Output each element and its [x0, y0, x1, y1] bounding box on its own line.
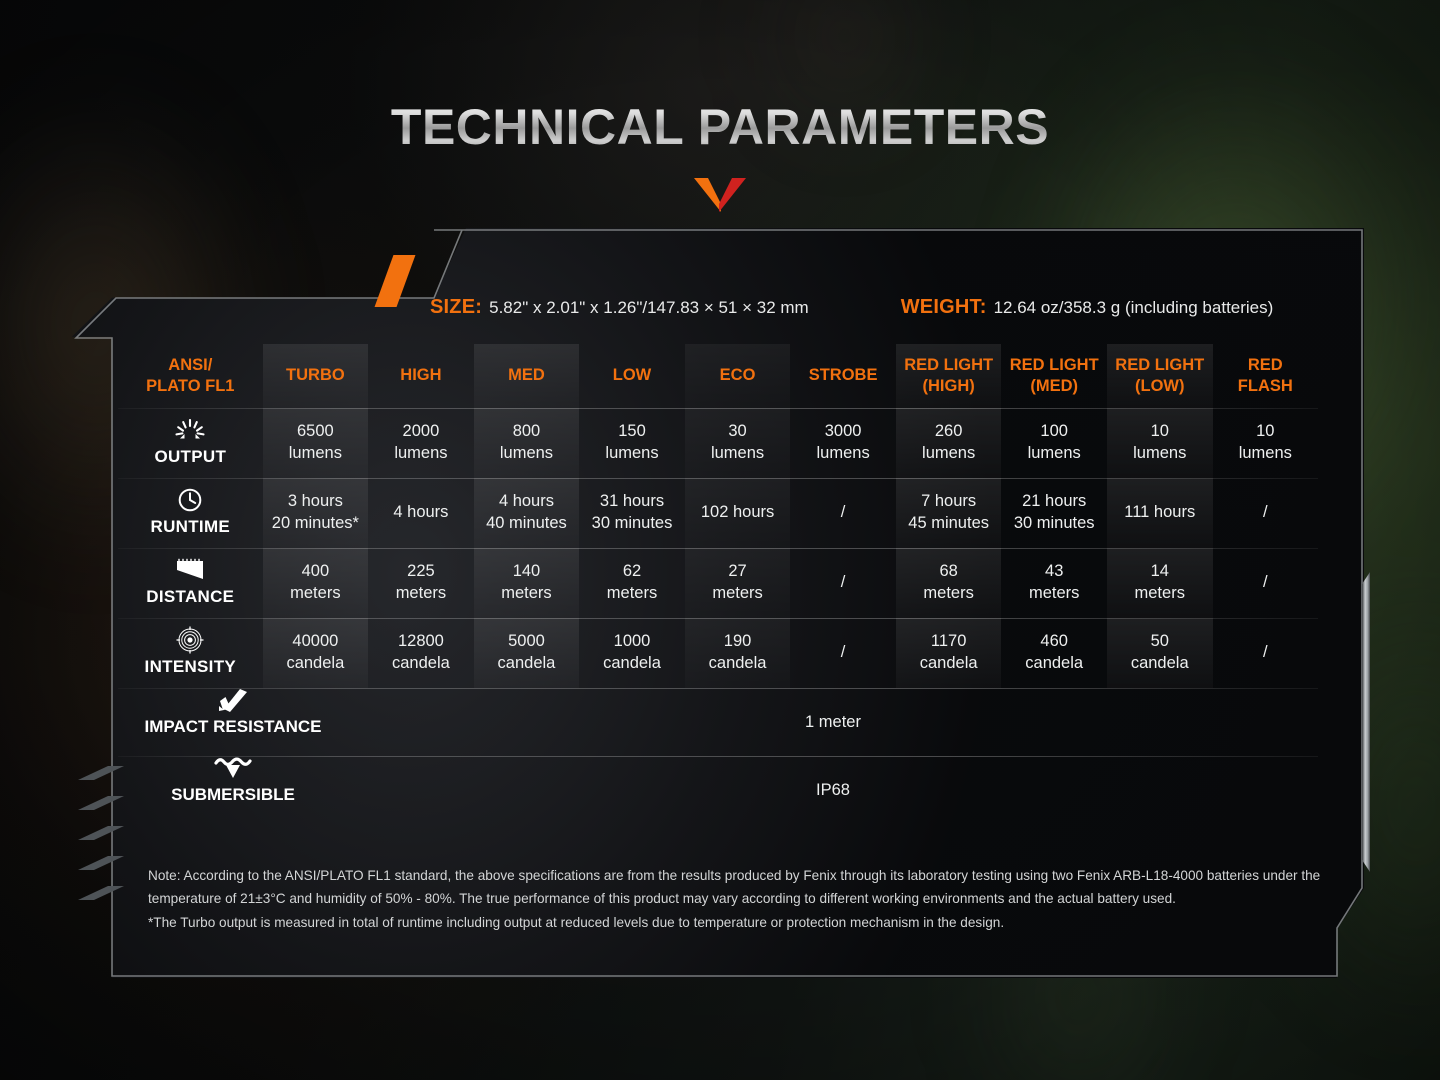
- row-label-intensity: INTENSITY: [118, 618, 263, 688]
- cell-output-red-low: 10lumens: [1107, 408, 1213, 478]
- row-label-text: OUTPUT: [154, 446, 226, 469]
- page-title: TECHNICAL PARAMETERS: [391, 98, 1049, 156]
- footnote-section: Note: According to the ANSI/PLATO FL1 st…: [148, 864, 1338, 934]
- table-row-runtime: RUNTIME 3 hours20 minutes* 4 hours 4 hou…: [118, 478, 1318, 548]
- cell-runtime-eco: 102 hours: [685, 478, 791, 548]
- size-label: SIZE:: [430, 296, 482, 319]
- cell-intensity-med: 5000candela: [474, 618, 580, 688]
- cell-distance-red-high: 68meters: [896, 548, 1002, 618]
- row-label-distance: DISTANCE: [118, 548, 263, 618]
- cell-intensity-red-high: 1170candela: [896, 618, 1002, 688]
- cell-distance-strobe: /: [790, 548, 896, 618]
- specification-table: ANSI/ PLATO FL1 TURBO HIGH MED LOW ECO S…: [118, 344, 1318, 824]
- cell-output-turbo: 6500lumens: [263, 408, 369, 478]
- cell-runtime-turbo: 3 hours20 minutes*: [263, 478, 369, 548]
- cell-output-red-med: 100lumens: [1001, 408, 1107, 478]
- cell-runtime-red-low: 111 hours: [1107, 478, 1213, 548]
- cell-intensity-turbo: 40000candela: [263, 618, 369, 688]
- cell-intensity-eco: 190candela: [685, 618, 791, 688]
- table-row-impact-resistance: IMPACT RESISTANCE 1 meter: [118, 688, 1318, 756]
- cell-intensity-high: 12800candela: [368, 618, 474, 688]
- row-label-text: IMPACT RESISTANCE: [145, 717, 322, 737]
- cell-output-red-high: 260lumens: [896, 408, 1002, 478]
- table-header-row: ANSI/ PLATO FL1 TURBO HIGH MED LOW ECO S…: [118, 344, 1318, 408]
- size-value: 5.82" x 2.01" x 1.26"/147.83 × 51 × 32 m…: [489, 298, 809, 318]
- cell-output-eco: 30lumens: [685, 408, 791, 478]
- target-intensity-icon: [176, 627, 204, 653]
- orange-accent-slash: [375, 255, 416, 307]
- row-label-text: DISTANCE: [146, 586, 234, 609]
- header-strobe: STROBE: [790, 344, 896, 408]
- impact-resistance-value: 1 meter: [348, 688, 1318, 756]
- cell-runtime-red-flash: /: [1213, 478, 1319, 548]
- cell-intensity-strobe: /: [790, 618, 896, 688]
- cell-runtime-med: 4 hours40 minutes: [474, 478, 580, 548]
- row-label-runtime: RUNTIME: [118, 478, 263, 548]
- cell-output-strobe: 3000lumens: [790, 408, 896, 478]
- cell-distance-high: 225meters: [368, 548, 474, 618]
- cell-output-high: 2000lumens: [368, 408, 474, 478]
- weight-label: WEIGHT:: [901, 296, 987, 319]
- cell-intensity-low: 1000candela: [579, 618, 685, 688]
- header-ansi-line1: ANSI/: [168, 355, 212, 376]
- cell-runtime-low: 31 hours30 minutes: [579, 478, 685, 548]
- footnote-main: Note: According to the ANSI/PLATO FL1 st…: [148, 864, 1338, 911]
- cell-intensity-red-low: 50candela: [1107, 618, 1213, 688]
- beam-distance-icon: [173, 557, 207, 583]
- cell-distance-low: 62meters: [579, 548, 685, 618]
- header-red-light-med: RED LIGHT (MED): [1001, 344, 1107, 408]
- header-turbo: TURBO: [263, 344, 369, 408]
- header-ansi-line2: PLATO FL1: [146, 376, 234, 397]
- cell-intensity-red-med: 460candela: [1001, 618, 1107, 688]
- row-label-text: RUNTIME: [151, 516, 231, 539]
- row-label-text: SUBMERSIBLE: [171, 785, 295, 805]
- cell-distance-med: 140meters: [474, 548, 580, 618]
- header-eco: ECO: [685, 344, 791, 408]
- cell-output-low: 150lumens: [579, 408, 685, 478]
- cell-distance-red-low: 14meters: [1107, 548, 1213, 618]
- header-low: LOW: [579, 344, 685, 408]
- header-red-flash: RED FLASH: [1213, 344, 1319, 408]
- footnote-turbo: *The Turbo output is measured in total o…: [148, 911, 1338, 934]
- header-red-light-high: RED LIGHT (HIGH): [896, 344, 1002, 408]
- cell-output-red-flash: 10lumens: [1213, 408, 1319, 478]
- cell-intensity-red-flash: /: [1213, 618, 1319, 688]
- chevron-down-icon: [692, 178, 748, 212]
- cell-distance-red-flash: /: [1213, 548, 1319, 618]
- row-label-submersible: SUBMERSIBLE: [118, 756, 348, 824]
- row-label-text: INTENSITY: [145, 656, 237, 679]
- cell-runtime-red-med: 21 hours30 minutes: [1001, 478, 1107, 548]
- cell-distance-eco: 27meters: [685, 548, 791, 618]
- clock-icon: [177, 487, 203, 513]
- table-row-submersible: SUBMERSIBLE IP68: [118, 756, 1318, 824]
- table-row-output: OUTPUT 6500lumens 2000lumens 800lumens 1…: [118, 408, 1318, 478]
- header-med: MED: [474, 344, 580, 408]
- cell-runtime-high: 4 hours: [368, 478, 474, 548]
- table-row-intensity: INTENSITY 40000candela 12800candela 5000…: [118, 618, 1318, 688]
- submersible-value: IP68: [348, 756, 1318, 824]
- spec-panel: SIZE: 5.82" x 2.01" x 1.26"/147.83 × 51 …: [72, 228, 1364, 978]
- hammer-impact-icon: [217, 688, 249, 714]
- cell-distance-turbo: 400meters: [263, 548, 369, 618]
- water-submersible-icon: [213, 756, 253, 782]
- weight-spec: WEIGHT: 12.64 oz/358.3 g (including batt…: [901, 296, 1274, 319]
- table-row-distance: DISTANCE 400meters 225meters 140meters 6…: [118, 548, 1318, 618]
- size-spec: SIZE: 5.82" x 2.01" x 1.26"/147.83 × 51 …: [430, 296, 809, 319]
- cell-distance-red-med: 43meters: [1001, 548, 1107, 618]
- row-label-output: OUTPUT: [118, 408, 263, 478]
- row-label-impact-resistance: IMPACT RESISTANCE: [118, 688, 348, 756]
- size-weight-bar: SIZE: 5.82" x 2.01" x 1.26"/147.83 × 51 …: [430, 286, 1350, 328]
- cell-output-med: 800lumens: [474, 408, 580, 478]
- cell-runtime-red-high: 7 hours45 minutes: [896, 478, 1002, 548]
- header-red-light-low: RED LIGHT (LOW): [1107, 344, 1213, 408]
- right-accent-bar: [1362, 572, 1370, 872]
- header-ansi-plato: ANSI/ PLATO FL1: [118, 344, 263, 408]
- cell-runtime-strobe: /: [790, 478, 896, 548]
- weight-value: 12.64 oz/358.3 g (including batteries): [994, 298, 1274, 318]
- sunburst-icon: [175, 417, 205, 443]
- header-high: HIGH: [368, 344, 474, 408]
- title-section: TECHNICAL PARAMETERS: [0, 98, 1440, 156]
